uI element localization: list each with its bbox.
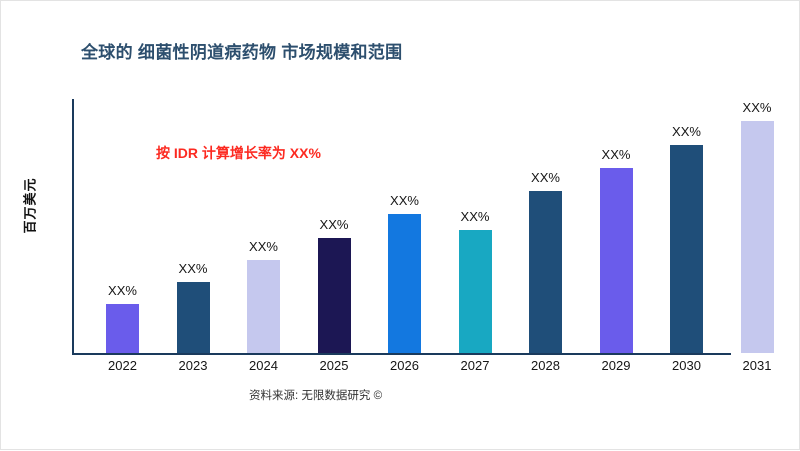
bar-value-label-2024: XX%	[234, 239, 294, 254]
bar-2028[interactable]	[529, 191, 562, 353]
source-note: 资料来源: 无限数据研究 ©	[249, 387, 382, 403]
bar-value-label-2025: XX%	[304, 217, 364, 232]
growth-rate-annotation: 按 IDR 计算增长率为 XX%	[156, 143, 321, 163]
x-axis-tick-label-2025: 2025	[304, 358, 364, 373]
bar-value-label-2030: XX%	[657, 124, 717, 139]
x-axis-tick-label-2027: 2027	[445, 358, 505, 373]
bar-2022[interactable]	[106, 304, 139, 353]
bar-2023[interactable]	[177, 282, 210, 353]
bar-2027[interactable]	[459, 230, 492, 353]
bar-value-label-2023: XX%	[163, 261, 223, 276]
bar-2030[interactable]	[670, 145, 703, 353]
x-axis-tick-label-2030: 2030	[657, 358, 717, 373]
bar-2029[interactable]	[600, 168, 633, 353]
bar-value-label-2028: XX%	[516, 170, 576, 185]
y-axis-title: 百万美元	[20, 156, 39, 256]
x-axis-tick-label-2031: 2031	[727, 358, 787, 373]
x-axis-line	[72, 353, 731, 355]
y-axis-line	[72, 99, 74, 354]
x-axis-tick-label-2026: 2026	[375, 358, 435, 373]
bar-value-label-2027: XX%	[445, 209, 505, 224]
bar-2025[interactable]	[318, 238, 351, 353]
x-axis-tick-label-2024: 2024	[234, 358, 294, 373]
bar-2026[interactable]	[388, 214, 421, 353]
bar-value-label-2031: XX%	[727, 100, 787, 115]
bar-value-label-2026: XX%	[375, 193, 435, 208]
bar-2024[interactable]	[247, 260, 280, 353]
x-axis-tick-label-2029: 2029	[586, 358, 646, 373]
chart-card: 全球的 细菌性阴道病药物 市场规模和范围 百万美元 按 IDR 计算增长率为 X…	[0, 0, 800, 450]
x-axis-tick-label-2022: 2022	[93, 358, 153, 373]
x-axis-tick-label-2023: 2023	[163, 358, 223, 373]
x-axis-tick-label-2028: 2028	[516, 358, 576, 373]
bar-value-label-2029: XX%	[586, 147, 646, 162]
bar-2031[interactable]	[741, 121, 774, 353]
bar-value-label-2022: XX%	[93, 283, 153, 298]
plot-area: 百万美元 按 IDR 计算增长率为 XX% XX%XX%XX%XX%XX%XX%…	[1, 1, 800, 451]
